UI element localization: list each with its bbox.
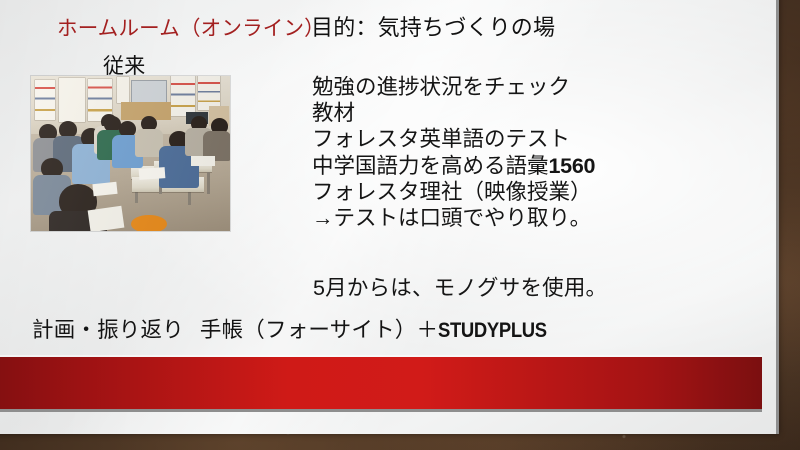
vocab-count: 1560 [549, 154, 596, 178]
purpose-heading: 目的：気持ちづくりの場 [311, 10, 555, 42]
body-line-progress-check: 勉強の進捗状況をチェック [312, 74, 595, 100]
body-line-foresta-science-social: フォレスタ理社（映像授業） [312, 179, 595, 205]
plan-review-line: 計画・振り返り手帳（フォーサイト）＋STUDYPLUS [32, 313, 562, 344]
presentation-backdrop: ホームルーム（オンライン） 従来 目的：気持ちづくりの場 勉強の進捗状況をチェッ… [0, 0, 800, 450]
photo-sheen [31, 76, 230, 231]
monogusa-note: 5月からは、モノグサを使用。 [313, 271, 607, 302]
body-text-block: 勉強の進捗状況をチェック 教材 フォレスタ英単語のテスト 中学国語力を高める語彙… [312, 74, 595, 231]
homeroom-online-title: ホームルーム（オンライン） [57, 11, 325, 41]
classroom-photo [31, 76, 230, 231]
body-line-vocabulary: 中学国語力を高める語彙1560 [312, 153, 595, 179]
body-line-oral-test: →テストは口頭でやり取り。 [312, 205, 595, 231]
body-line-materials: 教材 [312, 100, 595, 126]
studyplus-brand: STUDYPLUS [438, 319, 547, 343]
bottom-red-band [0, 357, 762, 412]
vocab-text: 中学国語力を高める語彙 [312, 154, 549, 178]
notebook-foresight-label: 手帳（フォーサイト）＋ [200, 318, 438, 342]
body-line-foresta-english-test: フォレスタ英単語のテスト [312, 126, 595, 152]
plan-review-label: 計画・振り返り [32, 318, 184, 342]
slide-panel: ホームルーム（オンライン） 従来 目的：気持ちづくりの場 勉強の進捗状況をチェッ… [0, 0, 779, 434]
